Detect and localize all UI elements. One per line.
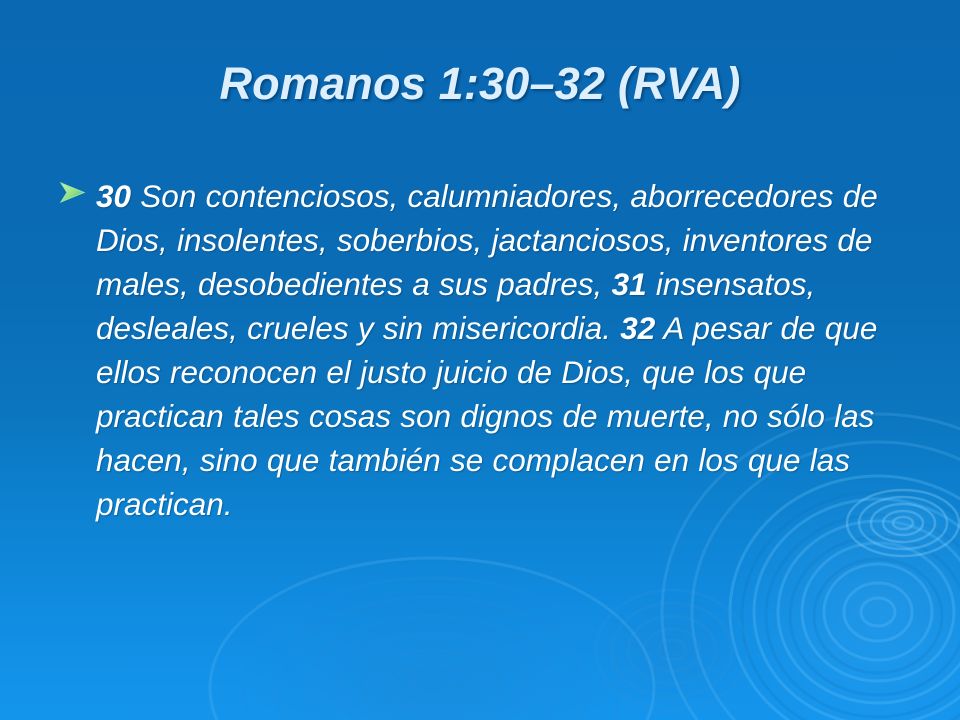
ripple-mid-center	[594, 588, 750, 712]
arrowhead-bullet-icon	[58, 174, 96, 206]
presentation-slide: Romanos 1:30–32 (RVA) 30 Son contencioso…	[0, 0, 960, 720]
slide-title: Romanos 1:30–32 (RVA)	[0, 58, 960, 110]
slide-body-block: 30 Son contenciosos, calumniadores, abor…	[58, 174, 928, 526]
scripture-text: 30 Son contenciosos, calumniadores, abor…	[96, 174, 928, 526]
ripple-broad-bottom	[242, 576, 622, 720]
scripture-rich-text: 30 Son contenciosos, calumniadores, abor…	[96, 178, 878, 522]
